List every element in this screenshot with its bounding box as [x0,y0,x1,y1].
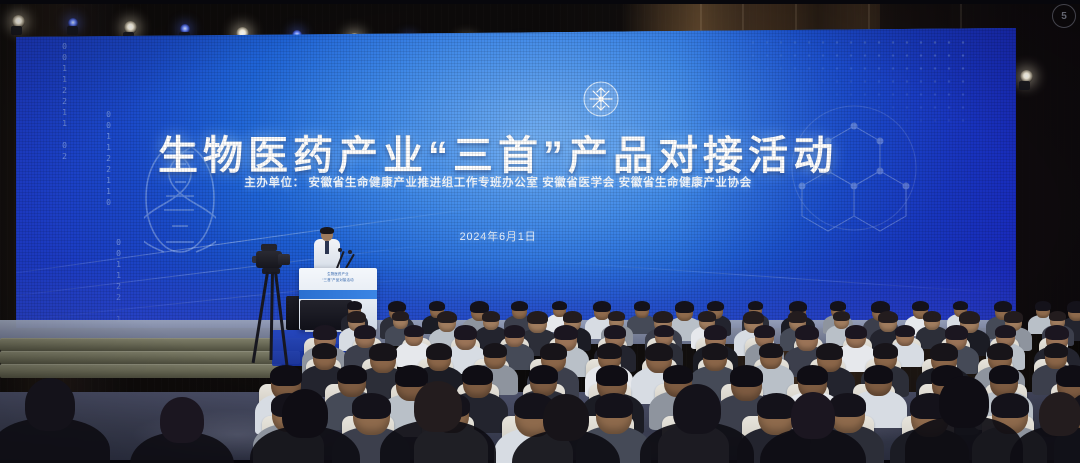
audience-hair [1049,311,1066,321]
audience-hair [270,365,302,386]
foreground-attendee-head [25,378,75,431]
audience-hair [653,311,673,323]
audience-hair [698,311,716,322]
audience-hair [797,365,828,385]
audience-hair [675,301,694,313]
podium-accent-band [299,290,377,299]
audience-hair [392,311,409,321]
audience-hair [596,365,628,386]
podium-label-line2: “三首”产品对接活动 [305,278,371,283]
audience-hair [454,325,477,340]
foreground-attendee-head [673,384,721,434]
audience-hair [864,365,893,384]
foreground-attendee-head [160,397,204,443]
audience-hair [369,343,397,361]
camera-top-handle [261,244,277,251]
audience-hair [1067,301,1080,313]
foreground-attendee-head [1039,392,1080,436]
audience-hair [462,365,493,385]
audience-hair [930,343,958,361]
audience-hair [923,311,941,322]
audience-hair [1044,343,1068,358]
audience-hair [945,325,968,340]
audience-hair [552,301,567,310]
stage-light-housing [1019,81,1030,90]
audience-hair [483,343,507,358]
foreground-attendee-head [791,392,836,439]
photo-top-border [0,0,1080,4]
speaker-hair [320,227,334,234]
audience-hair [347,311,366,323]
audience-hair [707,301,724,311]
audience-hair [312,343,337,359]
audience-hair [987,343,1013,360]
audience-hair [730,365,763,387]
audience-hair [788,311,807,323]
event-date: 2024年6月1日 [16,228,998,244]
audience-hair [953,301,968,310]
audience-hair [989,365,1019,384]
audience-hair [482,311,500,322]
audience-hair [563,311,582,323]
audience-hair [845,325,867,339]
audience-hair [347,301,362,310]
audience-hair [593,301,611,312]
audience-hair [873,343,898,359]
audience-hair [313,325,337,340]
conference-photo: 00112211 02 001122110 001122 1 [0,0,1080,463]
event-title: 生物医药产业“三首”产品对接活动 [16,123,998,181]
foreground-attendee-head [939,376,989,428]
audience-hair [995,325,1016,338]
audience-hair [743,311,764,324]
led-backdrop-screen: 00112211 02 001122110 001122 1 [16,28,1016,328]
microphone-head [338,248,342,252]
audience-hair [1004,311,1023,323]
camera-lens [278,254,290,265]
audience-hair [595,393,633,418]
audience-hair [759,343,783,358]
audience-hair [426,343,452,360]
corner-watermark: 5 [1052,4,1076,28]
audience-hair [833,311,850,321]
audience-seating [0,300,1080,463]
audience-hair [959,311,980,324]
foreground-attendee-head [543,394,588,442]
audience-hair [540,343,567,360]
audience-hair [1035,301,1051,311]
audience-hair [511,301,528,311]
audience-hair [795,325,819,340]
audience-hair [352,393,391,419]
audience-hair [634,301,650,311]
foreground-attendee-head [282,389,328,438]
audience-hair [754,325,775,338]
audience-hair [354,325,376,339]
audience-hair [504,325,525,338]
stage-light-housing [11,26,22,35]
stage-light-housing [67,26,78,35]
microphone-head [348,250,352,254]
audience-hair [702,343,728,360]
audience-hair [663,365,693,384]
event-organizers: 主办单位： 安徽省生命健康产业推进组工作专班办公室 安徽省医学会 安徽省生命健康… [16,174,998,190]
audience-hair [704,325,727,340]
audience-hair [395,365,428,387]
audience-hair [608,311,625,321]
audience-hair [437,311,457,323]
audience-hair [991,393,1029,418]
audience-hair [645,343,673,361]
audience-hair [878,311,898,323]
audience-hair [1056,365,1080,387]
audience-hair [912,301,929,311]
audience-hair [529,365,558,384]
podium-label-line1: 生物医药产业 [305,272,371,277]
speaker-tie [325,241,329,254]
audience-hair [654,325,674,337]
circular-snowflake-emblem [583,81,619,117]
audience-hair [554,325,578,340]
audience-hair [404,325,424,337]
audience-hair [757,393,796,419]
audience-hair [337,365,367,384]
audience-hair [830,301,846,311]
audience-hair [429,301,445,311]
audience-hair [604,325,626,339]
audience-hair [816,343,843,360]
audience-hair [895,325,915,337]
audience-hair [597,343,622,359]
audience-hair [527,311,548,324]
audience-hair [1045,325,1069,340]
foreground-attendee-head [414,381,463,432]
audience-hair [748,301,763,310]
